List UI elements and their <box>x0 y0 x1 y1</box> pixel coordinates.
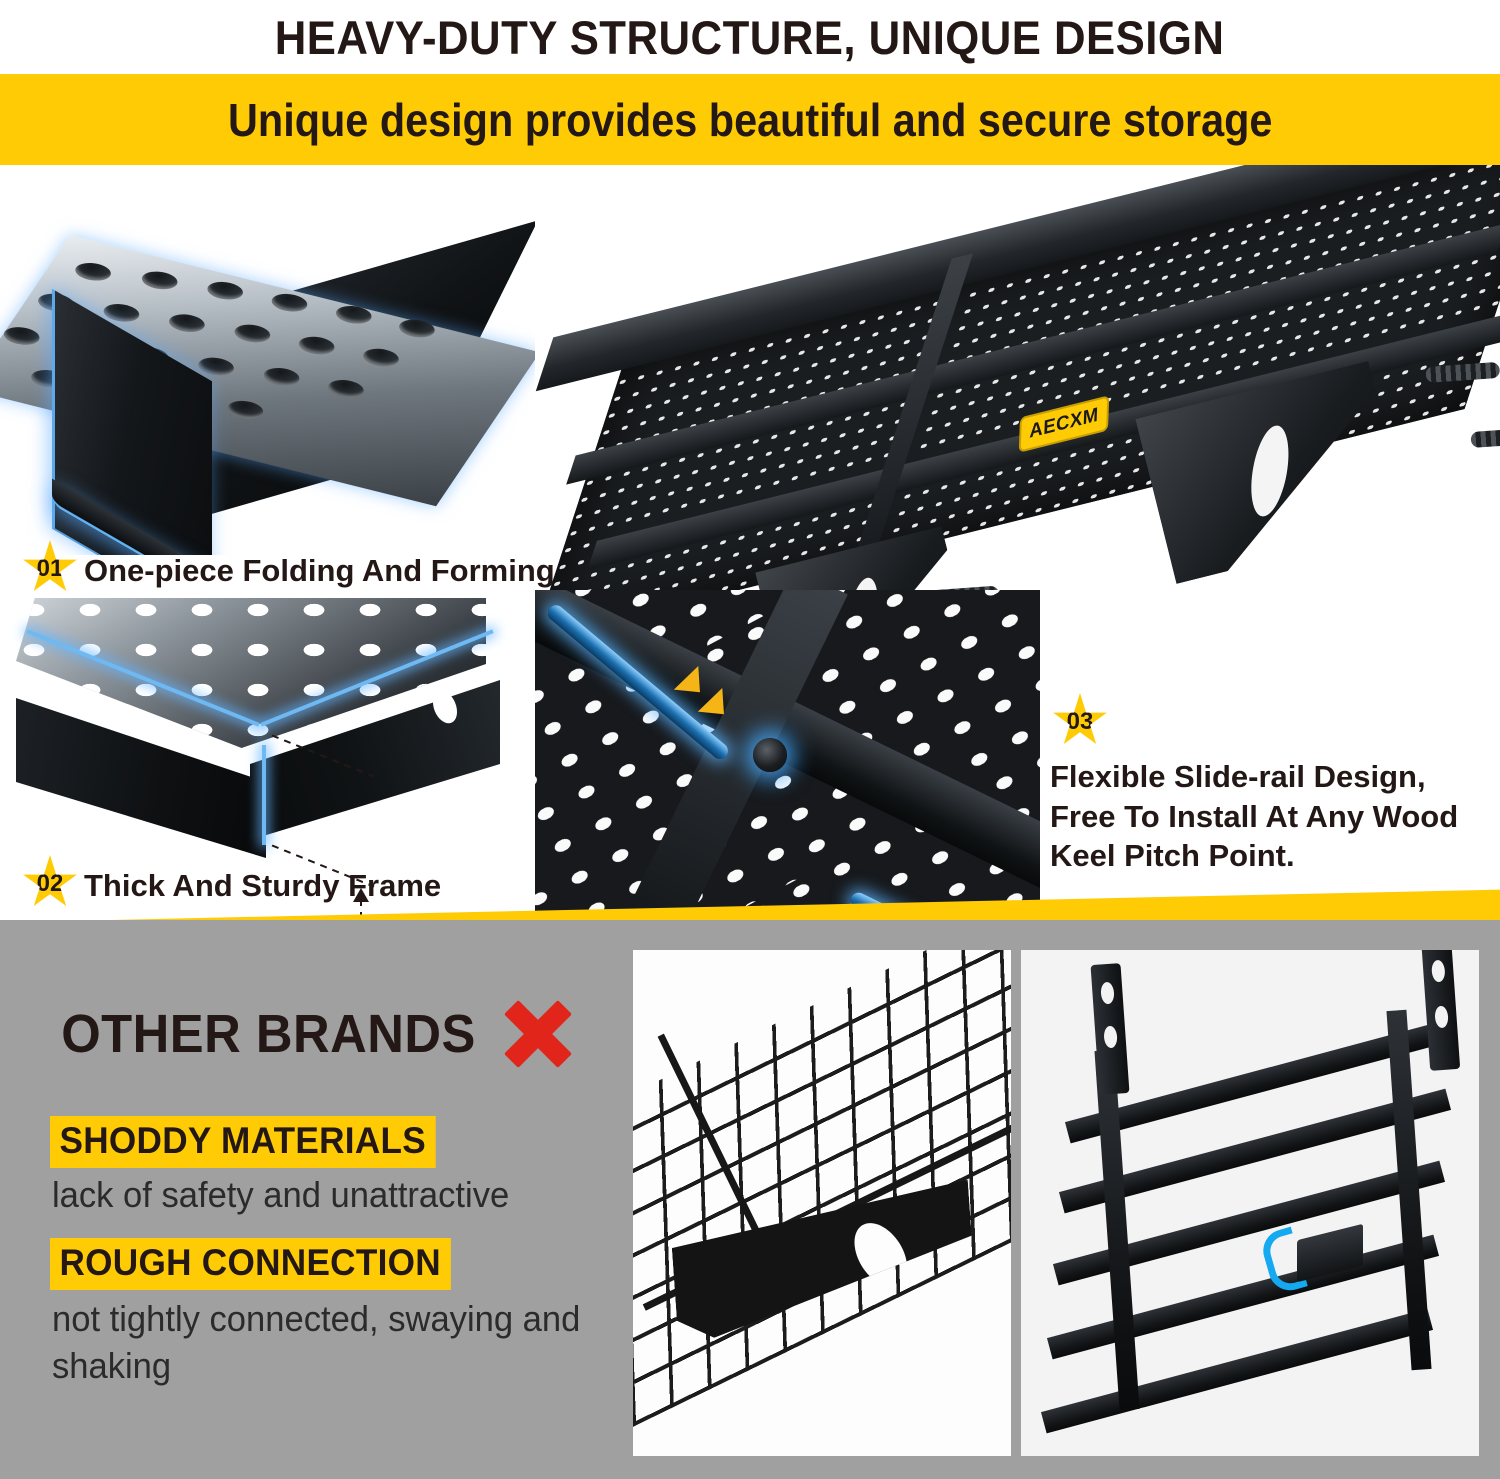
wall-bracket-right <box>1420 950 1460 1071</box>
drawback-title-1: SHODDY MATERIALS <box>50 1116 436 1168</box>
photo-thick-frame <box>0 580 520 900</box>
feature-number-02: 02 <box>37 872 64 896</box>
feature-label-02: Thick And Sturdy Frame <box>84 868 441 904</box>
channel-illustration <box>40 195 535 555</box>
page-subtitle: Unique design provides beautiful and sec… <box>228 93 1272 147</box>
drawback-desc-1: lack of safety and unattractive <box>52 1172 590 1219</box>
infographic-root: HEAVY-DUTY STRUCTURE, UNIQUE DESIGN Uniq… <box>0 0 1500 1479</box>
page-title: HEAVY-DUTY STRUCTURE, UNIQUE DESIGN <box>275 10 1225 65</box>
red-x-icon <box>507 1003 569 1065</box>
feature-number-01: 01 <box>37 557 64 581</box>
mounting-bolt <box>753 738 787 772</box>
drawback-title-2: ROUGH CONNECTION <box>50 1238 450 1290</box>
edge-highlight-corner <box>262 745 266 845</box>
main-title-bar: HEAVY-DUTY STRUCTURE, UNIQUE DESIGN <box>0 0 1500 74</box>
comparison-heading-group: OTHER BRANDS <box>48 1003 569 1065</box>
subtitle-band: Unique design provides beautiful and sec… <box>0 74 1500 165</box>
comparison-heading: OTHER BRANDS <box>61 1003 476 1065</box>
wall-anchor-2 <box>1470 427 1500 448</box>
photo-one-piece-channel <box>0 165 535 555</box>
comparison-section: OTHER BRANDS SHODDY MATERIALS lack of sa… <box>0 920 1500 1479</box>
features-section: 01 One-piece Folding And Forming AECXM <box>0 165 1500 920</box>
photo-ladder-frame <box>1021 950 1479 1456</box>
photo-wire-grid-shelf <box>633 950 1011 1456</box>
feature-star-03: 03 <box>1052 693 1108 749</box>
feature-label-03: Flexible Slide-rail Design, Free To Inst… <box>1050 757 1480 876</box>
drawback-desc-2: not tightly connected, swaying and shaki… <box>52 1296 590 1390</box>
feature-number-03: 03 <box>1067 710 1094 734</box>
